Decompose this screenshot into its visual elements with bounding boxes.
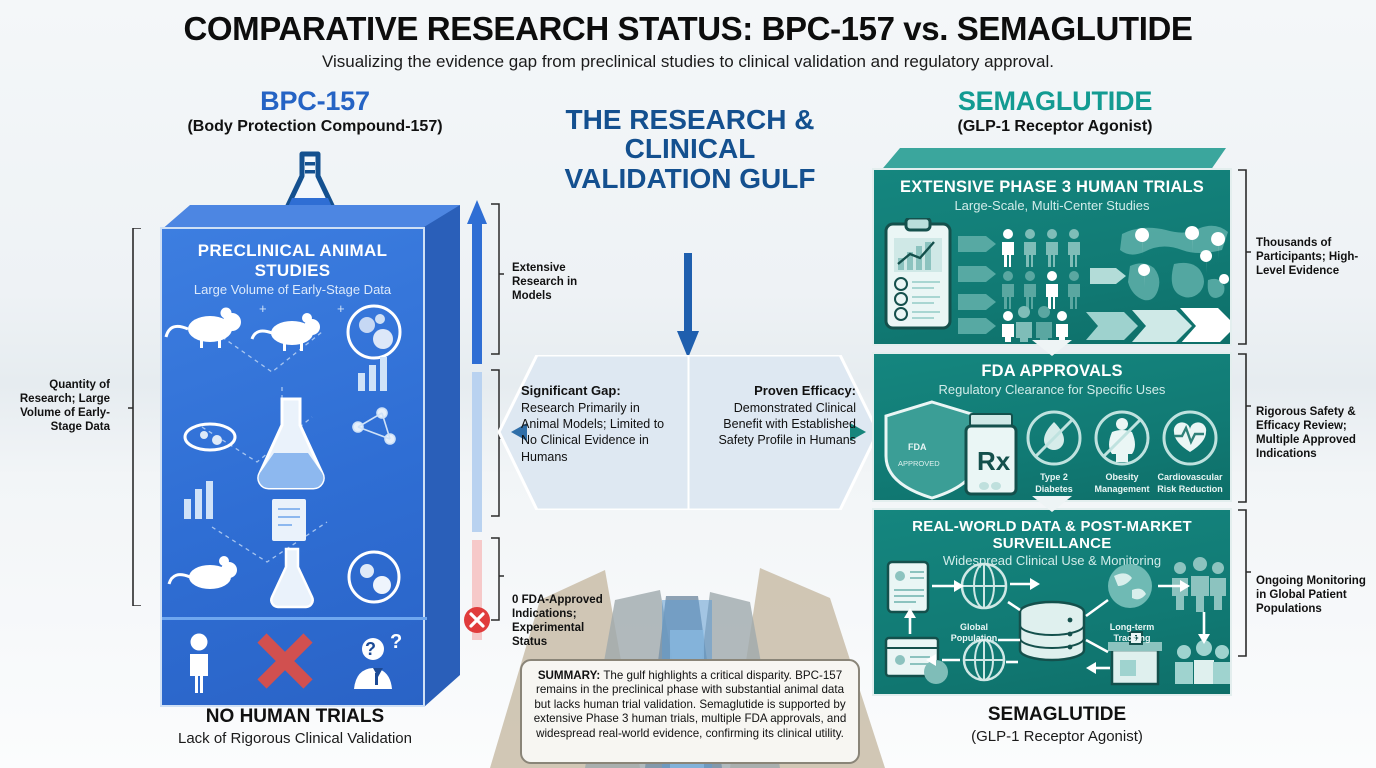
petri-dish-icon	[185, 424, 235, 450]
human-figure-icon	[179, 632, 219, 694]
page-subtitle: Visualizing the evidence gap from precli…	[0, 52, 1376, 72]
summary-label: SUMMARY:	[538, 669, 600, 682]
sema-subname: (GLP-1 Receptor Agonist)	[885, 118, 1225, 136]
webpage-icon	[886, 638, 948, 684]
svg-text:+: +	[337, 301, 345, 316]
sema-chevron-icon	[1032, 340, 1072, 358]
sema-caption: SEMAGLUTIDE (GLP-1 Receptor Agonist)	[912, 704, 1202, 745]
document-icon	[272, 499, 306, 541]
proven-efficacy-arrow: Proven Efficacy: Demonstrated Clinical B…	[688, 355, 880, 510]
bpc-research-icons: + +	[162, 277, 427, 622]
bar-chart-icon	[184, 481, 213, 519]
clipboard-icon	[888, 562, 928, 612]
fda-badge-line1: FDA	[908, 442, 927, 452]
sema-name: SEMAGLUTIDE	[885, 86, 1225, 117]
svg-text:Rx: Rx	[977, 446, 1011, 476]
svg-text:+: +	[259, 301, 267, 316]
indication-label-cv: Cardiovascular	[1157, 472, 1223, 482]
svg-text:?: ?	[390, 632, 402, 653]
obesity-icon	[1096, 412, 1148, 464]
people-group-icon	[1002, 306, 1068, 342]
svg-text:Risk Reduction: Risk Reduction	[1157, 484, 1223, 494]
globe-icon	[962, 564, 1006, 608]
question-scientist-icon: ? ?	[348, 632, 410, 694]
bpc-column-heading: BPC-157 (Body Protection Compound-157)	[150, 86, 480, 136]
bpc-caption-subtitle: Lack of Rigorous Clinical Validation	[150, 730, 440, 747]
sema-right-brackets	[1236, 168, 1252, 698]
flask-icon	[259, 399, 324, 488]
red-x-icon	[252, 632, 314, 694]
page-title: COMPARATIVE RESEARCH STATUS: BPC-157 vs.…	[0, 10, 1376, 48]
annotation-rigorous-safety: Rigorous Safety & Efficacy Review; Multi…	[1256, 405, 1372, 461]
bpc-panel-box: PRECLINICAL ANIMAL STUDIES Large Volume …	[160, 205, 460, 710]
significant-gap-arrow: Significant Gap: Research Primarily in A…	[497, 355, 689, 510]
flow-label-global-population: Global	[960, 622, 988, 632]
sema-realworld-panel: REAL-WORLD DATA & POST-MARKET SURVEILLAN…	[872, 508, 1232, 696]
svg-text:Population: Population	[951, 633, 998, 643]
globe-icon	[964, 640, 1004, 680]
summary-box: SUMMARY: The gulf highlights a critical …	[520, 659, 860, 764]
sema-caption-title: SEMAGLUTIDE	[912, 704, 1202, 726]
sema-chevron-icon	[1032, 496, 1072, 514]
gulf-title: THE RESEARCH & CLINICAL VALIDATION GULF	[545, 105, 835, 193]
svg-text:?: ?	[365, 639, 376, 659]
bpc-caption-title: NO HUMAN TRIALS	[150, 706, 440, 728]
significant-gap-text: Significant Gap: Research Primarily in A…	[521, 383, 669, 465]
heart-pulse-icon	[1164, 412, 1216, 464]
sema-column-heading: SEMAGLUTIDE (GLP-1 Receptor Agonist)	[885, 86, 1225, 136]
indication-label-type2: Type 2	[1040, 472, 1068, 482]
sema-panel3-title: REAL-WORLD DATA & POST-MARKET SURVEILLAN…	[874, 510, 1230, 552]
bpc-panel-title: PRECLINICAL ANIMAL STUDIES	[162, 241, 423, 281]
annotation-quantity-of-research: Quantity of Research; Large Volume of Ea…	[10, 378, 110, 434]
mouse-icon	[169, 556, 237, 589]
fda-badge-line2: APPROVED	[898, 459, 940, 468]
sema-panel1-subtitle: Large-Scale, Multi-Center Studies	[874, 198, 1230, 213]
bpc-box-side-face	[424, 205, 460, 710]
svg-text:Diabetes: Diabetes	[1035, 484, 1073, 494]
svg-text:Management: Management	[1094, 484, 1149, 494]
rx-bottle-icon: Rx	[966, 414, 1016, 494]
bar-chart-icon	[358, 357, 387, 391]
annotation-zero-fda-approved: 0 FDA-Approved Indications; Experimental…	[512, 593, 604, 649]
flow-label-long-term-tracking: Long-term	[1110, 622, 1155, 632]
proven-efficacy-heading: Proven Efficacy:	[754, 383, 856, 398]
bpc-subname: (Body Protection Compound-157)	[150, 118, 480, 136]
bpc-front-face: PRECLINICAL ANIMAL STUDIES Large Volume …	[160, 227, 425, 707]
sema-caption-subtitle: (GLP-1 Receptor Agonist)	[912, 728, 1202, 745]
sema-phase3-panel: EXTENSIVE PHASE 3 HUMAN TRIALS Large-Sca…	[872, 168, 1232, 346]
sema-panel2-illustration: FDA APPROVED Rx	[874, 400, 1230, 500]
proven-efficacy-body: Demonstrated Clinical Benefit with Estab…	[718, 401, 856, 448]
bpc-red-x-marker	[463, 606, 491, 634]
rat-icon	[252, 313, 320, 351]
annotation-thousands-participants: Thousands of Participants; High-Level Ev…	[1256, 236, 1368, 278]
significant-gap-heading: Significant Gap:	[521, 383, 621, 398]
sema-panel1-title: EXTENSIVE PHASE 3 HUMAN TRIALS	[874, 170, 1230, 197]
annotation-ongoing-monitoring: Ongoing Monitoring in Global Patient Pop…	[1256, 574, 1368, 616]
bpc-name: BPC-157	[150, 86, 480, 117]
earth-icon	[1108, 564, 1152, 608]
indication-label-obesity: Obesity	[1105, 472, 1138, 482]
down-arrow-icon	[676, 253, 700, 358]
sema-panel2-subtitle: Regulatory Clearance for Specific Uses	[874, 382, 1230, 397]
bpc-no-human-trials-band: ? ?	[162, 617, 427, 705]
clipboard-chart-icon	[886, 218, 950, 328]
fda-approved-shield-icon: FDA APPROVED	[886, 402, 978, 498]
database-icon	[1020, 602, 1084, 660]
sema-fda-approvals-panel: FDA APPROVALS Regulatory Clearance for S…	[872, 352, 1232, 502]
no-sugar-icon	[1028, 412, 1080, 464]
cell-culture-icon	[349, 552, 399, 602]
forward-arrows-icon	[1086, 308, 1230, 342]
sema-panel3-illustration: Global Population Long-term Tracking	[874, 556, 1230, 692]
bpc-caption: NO HUMAN TRIALS Lack of Rigorous Clinica…	[150, 706, 440, 747]
svg-text:Tracking: Tracking	[1113, 633, 1150, 643]
flask-icon	[271, 549, 312, 607]
sema-panel2-title: FDA APPROVALS	[874, 354, 1230, 381]
annotation-extensive-research: Extensive Research in Models	[512, 261, 598, 303]
infographic-root: COMPARATIVE RESEARCH STATUS: BPC-157 vs.…	[0, 0, 1376, 768]
bpc-left-bracket	[128, 228, 142, 606]
people-group-icon	[1175, 640, 1230, 684]
cell-culture-icon	[348, 306, 400, 358]
sema-panel1-illustration	[874, 218, 1230, 342]
bpc-evidence-gauge	[466, 200, 488, 652]
molecule-icon	[353, 408, 395, 444]
significant-gap-body: Research Primarily in Animal Models; Lim…	[521, 401, 664, 464]
proven-efficacy-text: Proven Efficacy: Demonstrated Clinical B…	[708, 383, 856, 449]
